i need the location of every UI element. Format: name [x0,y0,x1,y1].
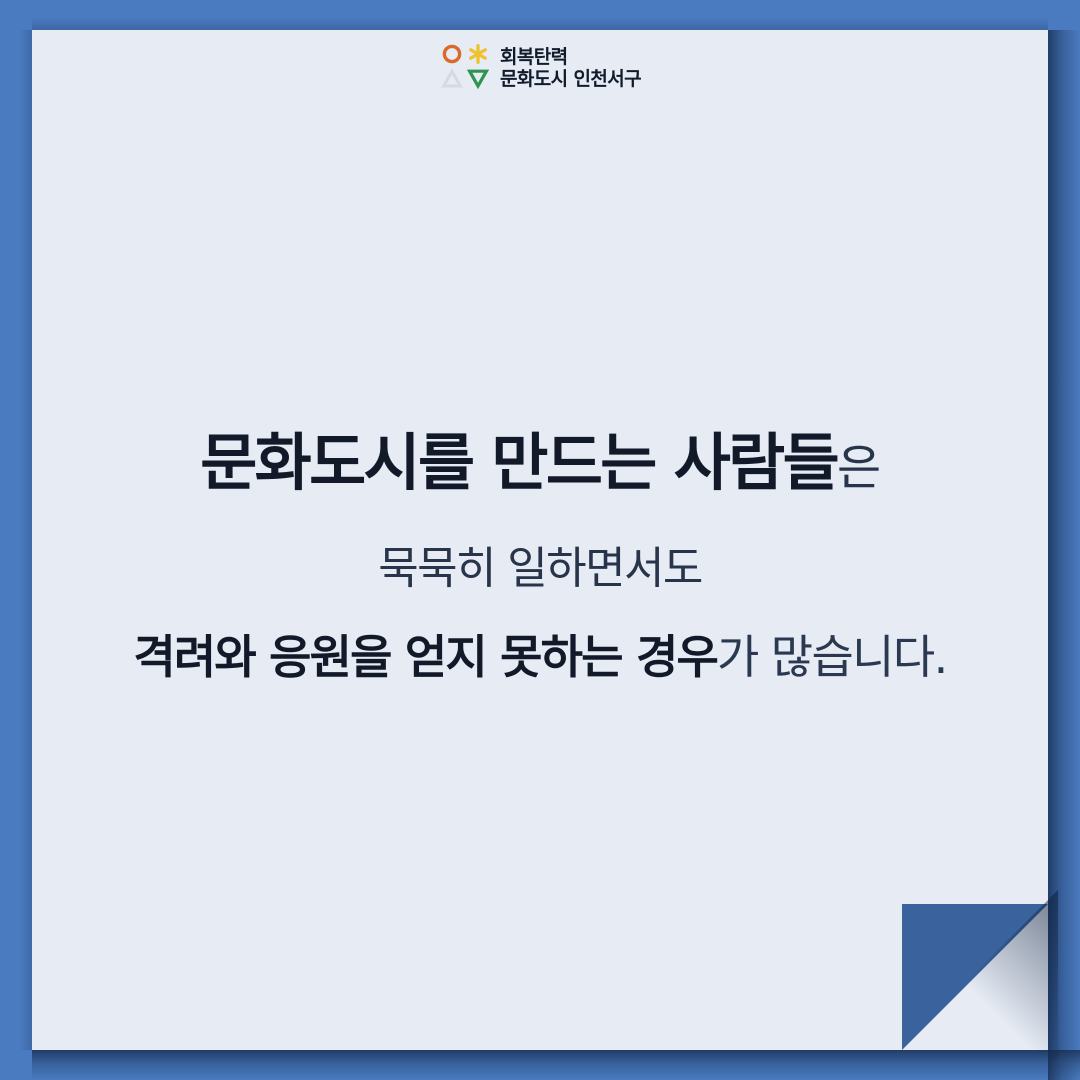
card-shadow-bottom [32,1050,1080,1080]
card-shadow-top [32,18,1048,30]
card-shadow-right [1048,30,1080,1080]
headline-line-1-strong: 문화도시를 만드는 사람들 [200,426,837,499]
logo-line-2: 문화도시 인천서구 [500,70,641,89]
headline-line-3-soft: 가 많습니다. [717,630,947,684]
card-shadow-left [20,30,32,1050]
triangle-down-icon [467,68,489,94]
card-news-slide: 회복탄력 문화도시 인천서구 문화도시를 만드는 사람들은 묵묵히 일하면서도 … [0,0,1080,1080]
logo-wordmark: 회복탄력 문화도시 인천서구 [500,48,641,89]
headline-line-1: 문화도시를 만드는 사람들은 [32,428,1048,498]
logo-marks [439,44,491,93]
headline-line-1-soft: 은 [837,440,880,496]
logo-line-1: 회복탄력 [500,48,641,67]
triangle-outline-icon [441,68,463,94]
circle-outline-icon [441,43,463,70]
folded-corner [902,904,1048,1050]
star-icon [467,43,489,70]
headline-line-3-strong: 격려와 응원을 얻지 못하는 경우 [133,630,717,684]
headline-line-2: 묵묵히 일하면서도 [32,544,1048,595]
brand-logo: 회복탄력 문화도시 인천서구 [32,44,1048,93]
headline-line-3: 격려와 응원을 얻지 못하는 경우가 많습니다. [32,631,1048,684]
headline-block: 문화도시를 만드는 사람들은 묵묵히 일하면서도 격려와 응원을 얻지 못하는 … [32,428,1048,684]
content-card: 회복탄력 문화도시 인천서구 문화도시를 만드는 사람들은 묵묵히 일하면서도 … [32,30,1048,1050]
